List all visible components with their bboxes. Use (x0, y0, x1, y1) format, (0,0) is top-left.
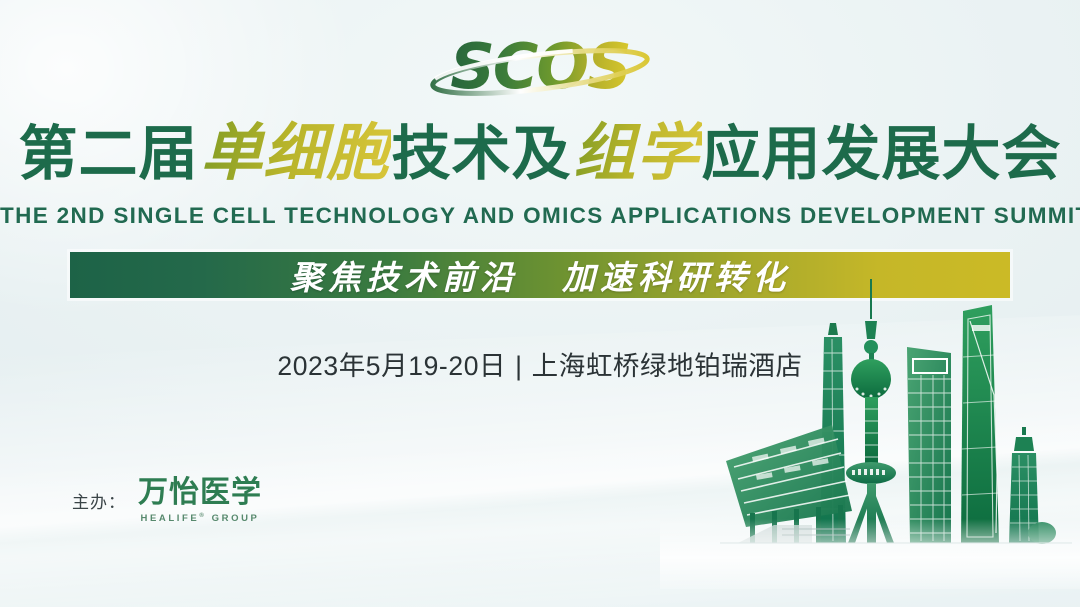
event-venue: 上海虹桥绿地铂瑞酒店 (532, 351, 803, 381)
organizer-name-en-suffix: GROUP (212, 513, 260, 524)
title-segment-3: 技术及 (391, 119, 571, 188)
expo-pavilion (726, 425, 852, 543)
event-date-venue: 2023年5月19-20日|上海虹桥绿地铂瑞酒店 (0, 344, 1080, 383)
shanghai-tower (961, 305, 999, 543)
title-segment-5: 应用发展大会 (702, 119, 1062, 188)
trademark-symbol: ® (199, 513, 206, 519)
organizer-name-cn: 万怡医学 (138, 478, 262, 508)
scos-logo: SCOS (425, 22, 655, 108)
organizer-name-en: HEALIFE® GROUP (141, 513, 260, 524)
page-title: 第二届单细胞技术及组学应用发展大会 (0, 122, 1080, 184)
conference-poster: SCOS 第二届单细胞技术及组学应用发展大会 THE 2ND SINGLE CE… (0, 0, 1080, 607)
organizer-label: 主办： (72, 488, 126, 513)
event-date: 2023年5月19-20日 (277, 351, 506, 381)
park-hotel (1009, 427, 1056, 544)
ground-haze (660, 519, 1080, 589)
title-segment-4: 组学 (572, 116, 702, 189)
organizer-block: 主办： 万怡医学 HEALIFE® GROUP (72, 478, 262, 524)
title-segment-2: 单细胞 (198, 116, 391, 189)
title-segment-1: 第二届 (18, 119, 198, 188)
oriental-pearl-tower (846, 279, 896, 543)
organizer-name-en-main: HEALIFE (141, 513, 200, 524)
event-separator: | (506, 351, 531, 381)
subtitle-english: THE 2ND SINGLE CELL TECHNOLOGY AND OMICS… (0, 203, 1080, 229)
shanghai-skyline-illustration (720, 275, 1080, 575)
slogan-banner (70, 252, 1010, 298)
healife-logo: 万怡医学 HEALIFE® GROUP (138, 478, 262, 524)
